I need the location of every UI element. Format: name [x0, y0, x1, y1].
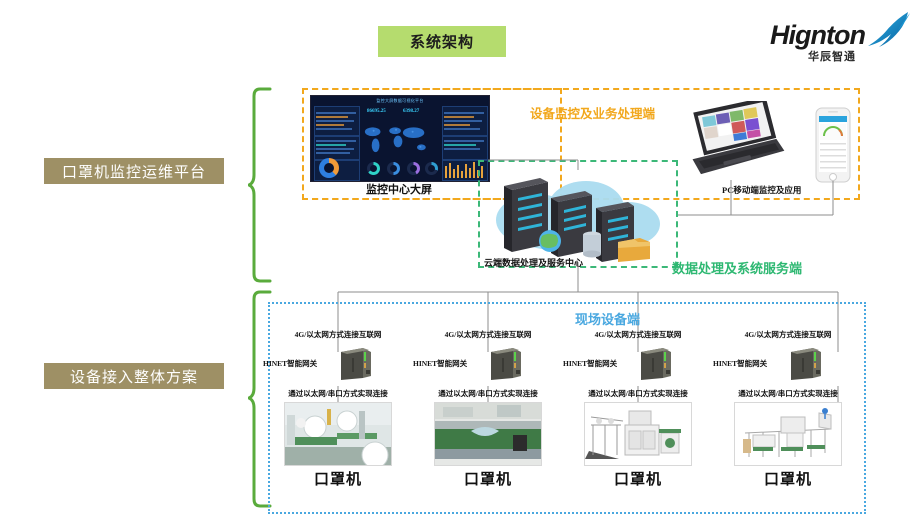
column-3-network-label: 4G/以太网方式连接互联网	[579, 330, 697, 340]
column-3-connection-label: 通过以太网/串口方式实现连接	[563, 388, 713, 399]
field-column-1: 4G/以太网方式连接互联网 HINET智能网关 通过以太网/串口方式实现连接	[263, 330, 413, 489]
column-1-machine-photo	[284, 402, 392, 466]
column-1-machine-name: 口罩机	[263, 468, 413, 489]
column-1-gateway-label: HINET智能网关	[263, 358, 317, 369]
column-2-machine-name: 口罩机	[413, 468, 563, 489]
column-4-machine-photo	[734, 402, 842, 466]
column-1-connection-label: 通过以太网/串口方式实现连接	[263, 388, 413, 399]
diagram-canvas: 系统架构 Hignton 华辰智通 口罩机监控运维平台 设备接入整体方案 设备监…	[0, 0, 915, 522]
column-2-gateway-label: HINET智能网关	[413, 358, 467, 369]
column-4-network-label: 4G/以太网方式连接互联网	[729, 330, 847, 340]
hinet-gateway-icon	[637, 346, 675, 382]
column-4-machine-name: 口罩机	[713, 468, 863, 489]
column-1-network-label: 4G/以太网方式连接互联网	[279, 330, 397, 340]
column-4-connection-label: 通过以太网/串口方式实现连接	[713, 388, 863, 399]
field-column-2: 4G/以太网方式连接互联网 HINET智能网关 通过以太网/串口方式实现连接	[413, 330, 563, 489]
column-4-gateway-label: HINET智能网关	[713, 358, 767, 369]
column-2-connection-label: 通过以太网/串口方式实现连接	[413, 388, 563, 399]
field-column-4: 4G/以太网方式连接互联网 HINET智能网关 通过以太网/串口方式实现连接	[713, 330, 863, 489]
hinet-gateway-icon	[787, 346, 825, 382]
field-section-caption: 现场设备端	[575, 309, 640, 328]
column-3-machine-photo	[584, 402, 692, 466]
column-3-gateway-label: HINET智能网关	[563, 358, 617, 369]
hinet-gateway-icon	[337, 346, 375, 382]
field-column-3: 4G/以太网方式连接互联网 HINET智能网关 通过以太网/串口方式实现连接	[563, 330, 713, 489]
column-2-machine-photo	[434, 402, 542, 466]
column-3-machine-name: 口罩机	[563, 468, 713, 489]
column-2-network-label: 4G/以太网方式连接互联网	[429, 330, 547, 340]
hinet-gateway-icon	[487, 346, 525, 382]
